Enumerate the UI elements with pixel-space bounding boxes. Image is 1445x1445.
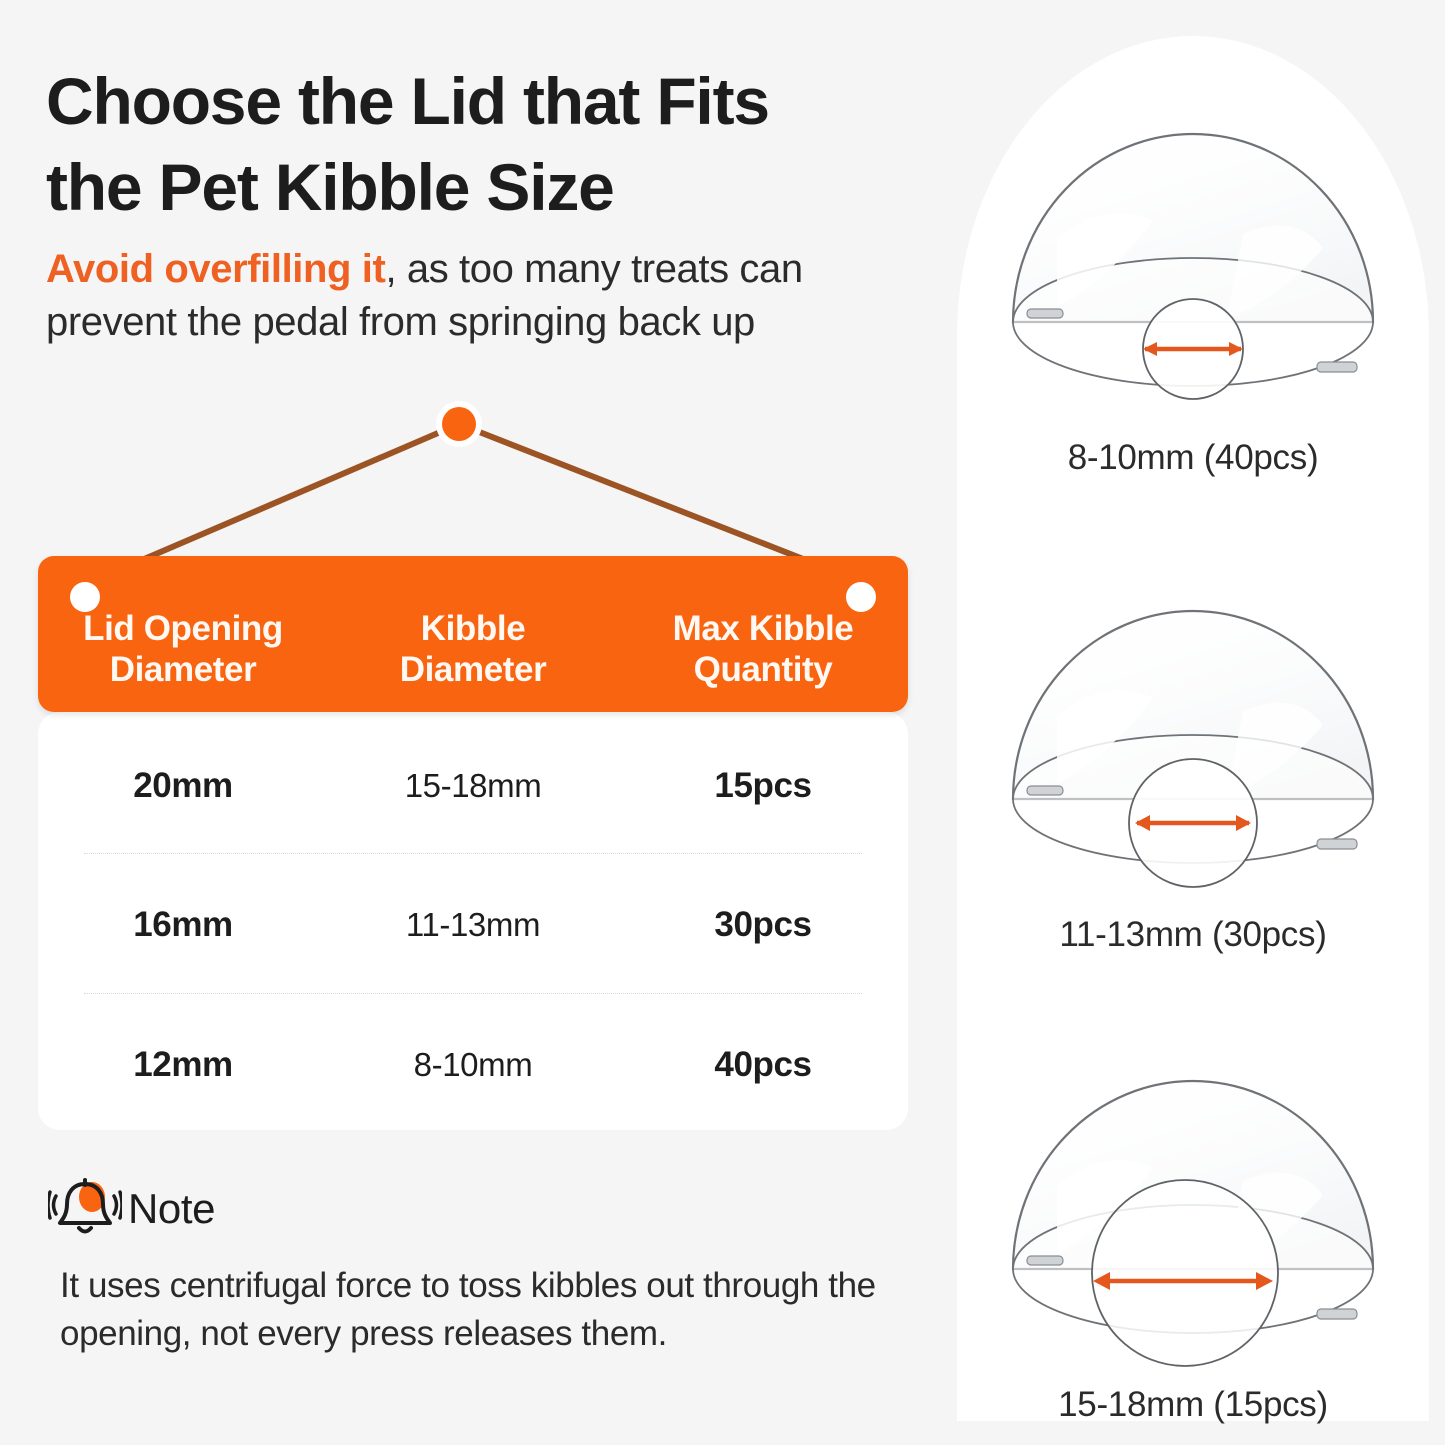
column-header-max-kibble-quantity: Max Kibble Quantity — [618, 608, 908, 691]
cell-max-kibble-quantity: 15pcs — [618, 766, 908, 806]
table-header-row: Lid Opening Diameter Kibble Diameter Max… — [38, 608, 908, 691]
product-card-15-18mm: 15-18mm (15pcs) — [957, 1051, 1429, 1425]
dome-lid-image — [957, 1051, 1429, 1381]
subtitle-highlight: Avoid overfilling it — [46, 247, 385, 291]
subtitle: Avoid overfilling it, as too many treats… — [46, 243, 906, 349]
product-gallery-panel: 8-10mm (40pcs) — [957, 36, 1429, 1421]
page-title-line1: Choose the Lid that Fits — [46, 64, 769, 138]
orange-pin-icon — [442, 407, 476, 441]
row-divider — [84, 853, 862, 854]
product-caption: 11-13mm (30pcs) — [957, 915, 1429, 955]
dome-lid-svg — [957, 581, 1429, 911]
page-title: Choose the Lid that Fits the Pet Kibble … — [46, 58, 946, 231]
cell-kibble-diameter: 8-10mm — [328, 1046, 618, 1084]
dome-lid-image — [957, 581, 1429, 911]
note-label: Note — [128, 1185, 215, 1233]
cell-max-kibble-quantity: 30pcs — [618, 905, 908, 945]
page-title-line2: the Pet Kibble Size — [46, 150, 614, 224]
table-row: 12mm 8-10mm 40pcs — [38, 1042, 908, 1088]
cell-kibble-diameter: 15-18mm — [328, 767, 618, 805]
dome-lid-svg — [957, 104, 1429, 434]
cell-max-kibble-quantity: 40pcs — [618, 1045, 908, 1085]
cell-kibble-diameter: 11-13mm — [328, 906, 618, 944]
pin-halo — [436, 401, 482, 447]
cell-lid-opening-diameter: 12mm — [38, 1045, 328, 1085]
note-header: Note — [48, 1178, 215, 1240]
info-column: Choose the Lid that Fits the Pet Kibble … — [0, 0, 957, 1445]
product-card-8-10mm: 8-10mm (40pcs) — [957, 104, 1429, 478]
cell-lid-opening-diameter: 20mm — [38, 766, 328, 806]
table-row: 20mm 15-18mm 15pcs — [38, 763, 908, 809]
product-card-11-13mm: 11-13mm (30pcs) — [957, 581, 1429, 955]
note-body: It uses centrifugal force to toss kibble… — [60, 1262, 910, 1358]
cell-lid-opening-diameter: 16mm — [38, 905, 328, 945]
product-caption: 15-18mm (15pcs) — [957, 1385, 1429, 1425]
dome-lid-image — [957, 104, 1429, 434]
column-header-kibble-diameter: Kibble Diameter — [328, 608, 618, 691]
column-header-lid-opening-diameter: Lid Opening Diameter — [38, 608, 328, 691]
row-divider — [84, 993, 862, 994]
spec-table-header-sign: Lid Opening Diameter Kibble Diameter Max… — [38, 556, 908, 712]
table-row: 16mm 11-13mm 30pcs — [38, 902, 908, 948]
product-caption: 8-10mm (40pcs) — [957, 438, 1429, 478]
dome-lid-svg — [957, 1051, 1429, 1381]
spec-table-card: 20mm 15-18mm 15pcs 16mm 11-13mm 30pcs 12… — [38, 712, 908, 1130]
bell-icon — [48, 1178, 122, 1240]
